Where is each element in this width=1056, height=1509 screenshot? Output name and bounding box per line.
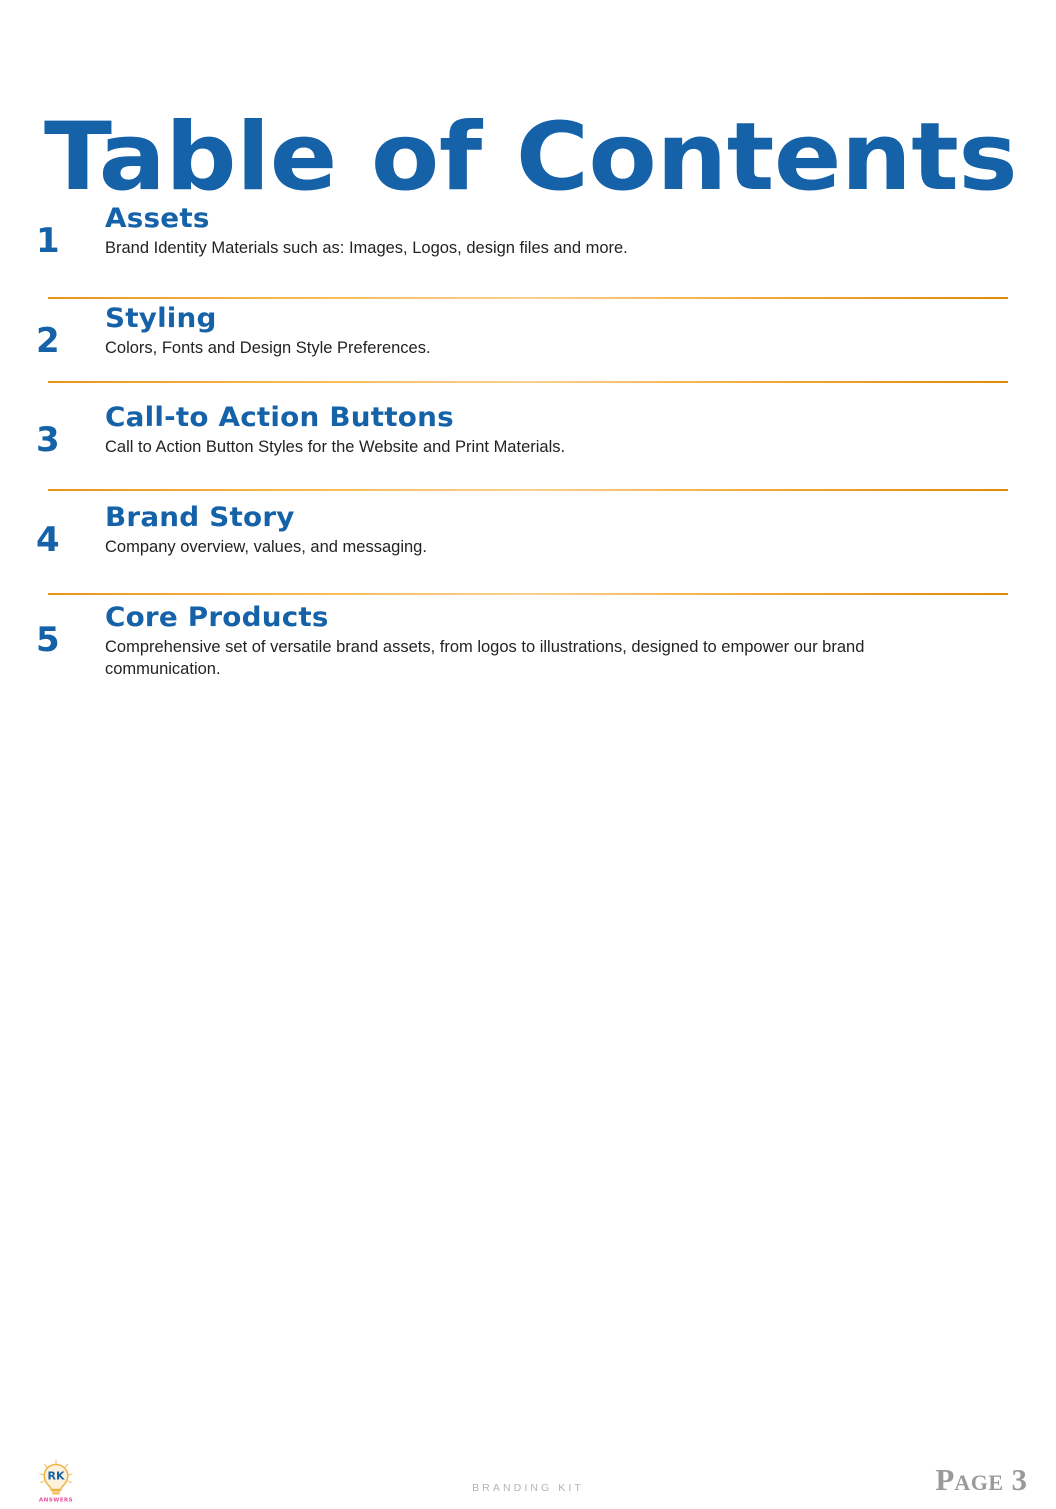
brand-logo[interactable]: RK ANSWERS [33,1458,79,1504]
toc-item-description: Call to Action Button Styles for the Web… [105,437,975,458]
toc-item-heading: Brand Story [105,503,1035,533]
toc-item-heading: Call-to Action Buttons [105,403,1035,433]
toc-item-heading: Assets [105,204,1035,234]
toc-item-description: Comprehensive set of versatile brand ass… [105,637,975,680]
toc-item-heading: Core Products [105,603,1035,633]
toc-item-number: 5 [0,603,60,657]
page-number-value: 3 [1012,1462,1028,1497]
toc-item-number: 3 [0,403,60,457]
toc-item-heading: Styling [105,304,1035,334]
toc-item-4[interactable]: 4 Brand Story Company overview, values, … [0,503,1056,559]
toc-item-3[interactable]: 3 Call-to Action Buttons Call to Action … [0,403,1056,459]
toc-item-number: 4 [0,503,60,557]
toc-item-description: Company overview, values, and messaging. [105,537,975,558]
toc-item-number: 2 [0,304,60,358]
page-number-prefix-rest: AGE [954,1470,1003,1495]
toc-divider-3 [48,489,1008,491]
toc-divider-2 [48,381,1008,383]
toc-item-description: Brand Identity Materials such as: Images… [105,238,975,259]
toc-divider-1 [48,297,1008,299]
toc-divider-4 [48,593,1008,595]
toc-item-1[interactable]: 1 Assets Brand Identity Materials such a… [0,204,1056,260]
page-title: Table of Contents [44,111,1017,205]
toc-item-5[interactable]: 5 Core Products Comprehensive set of ver… [0,603,1056,680]
page-number-prefix-cap: P [935,1462,954,1497]
toc-item-2[interactable]: 2 Styling Colors, Fonts and Design Style… [0,304,1056,360]
slide-page: Table of Contents 1 Assets Brand Identit… [0,0,1056,816]
footer-label: BRANDING KIT [0,1482,1056,1494]
toc-item-number: 1 [0,204,60,258]
page-number: PAGE3 [935,1464,1027,1495]
logo-wordmark: ANSWERS [39,1498,73,1504]
toc-item-description: Colors, Fonts and Design Style Preferenc… [105,338,975,359]
page-footer: RK ANSWERS BRANDING KIT PAGE3 [0,720,1056,816]
logo-mark-text: RK [48,1470,65,1483]
lightbulb-icon: RK ANSWERS [33,1458,79,1504]
